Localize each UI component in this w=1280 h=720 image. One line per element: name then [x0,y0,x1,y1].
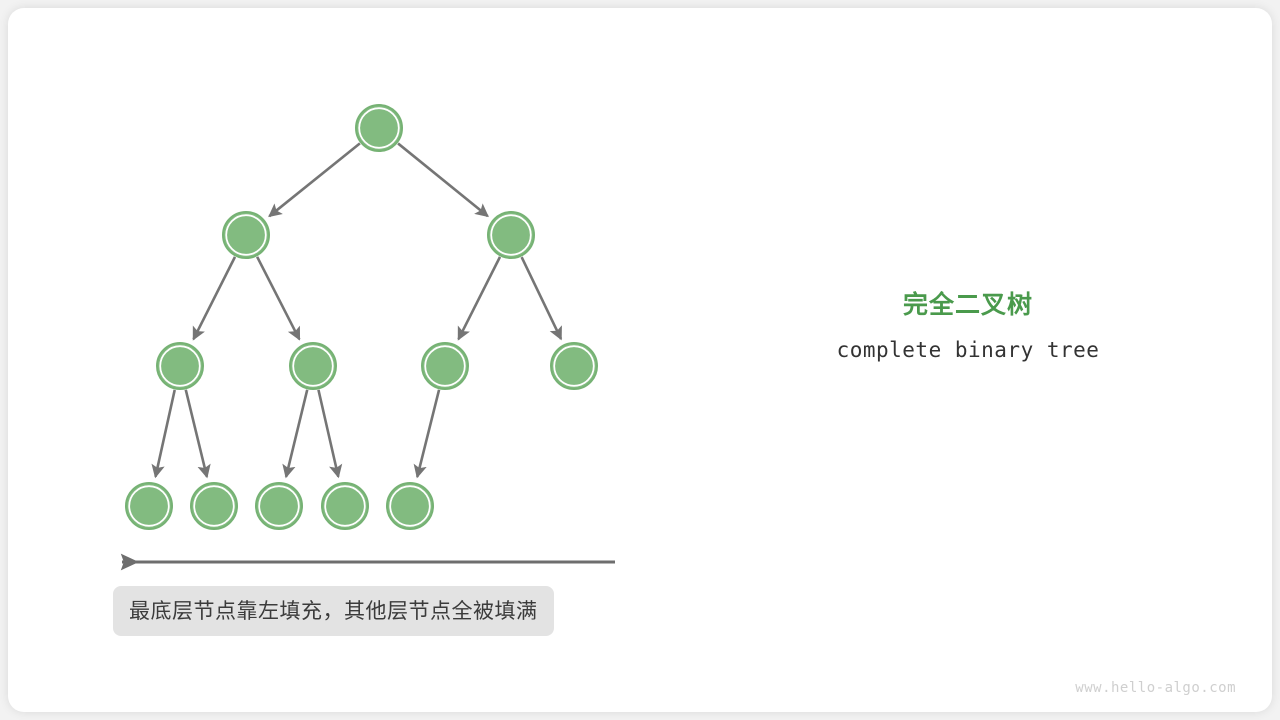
node-core [260,487,297,524]
tree-edges [155,143,561,477]
tree-edge [458,257,499,339]
tree-node [356,105,402,151]
node-core [360,109,397,146]
tree-edge [155,390,174,477]
node-core [161,347,198,384]
tree-edge [522,257,561,339]
tree-node [322,483,368,529]
tree-edge [398,143,488,216]
caption-badge: 最底层节点靠左填充，其他层节点全被填满 [113,586,554,636]
tree-node [223,212,269,258]
node-core [227,216,264,253]
diagram-canvas: 完全二叉树 complete binary tree 最底层节点靠左填充，其他层… [0,0,1280,720]
tree-edge [318,390,338,477]
tree-node [256,483,302,529]
tree-edge [286,390,307,477]
node-core [326,487,363,524]
tree-node [488,212,534,258]
tree-node [422,343,468,389]
legend-label: 完全二叉树 complete binary tree [780,290,1156,362]
node-core [492,216,529,253]
node-core [391,487,428,524]
tree-node [387,483,433,529]
node-core [195,487,232,524]
node-core [294,347,331,384]
tree-edge [193,257,234,339]
tree-node [290,343,336,389]
node-core [130,487,167,524]
tree-node [157,343,203,389]
legend-title: 完全二叉树 [780,290,1156,320]
tree-edge [269,143,360,216]
node-core [555,347,592,384]
legend-subtitle: complete binary tree [780,338,1156,362]
tree-edge [186,390,207,477]
tree-node [126,483,172,529]
site-watermark: www.hello-algo.com [1075,680,1236,696]
tree-node [551,343,597,389]
tree-node [191,483,237,529]
tree-nodes [126,105,597,529]
node-core [426,347,463,384]
tree-edge [257,257,299,339]
tree-edge [417,390,439,477]
